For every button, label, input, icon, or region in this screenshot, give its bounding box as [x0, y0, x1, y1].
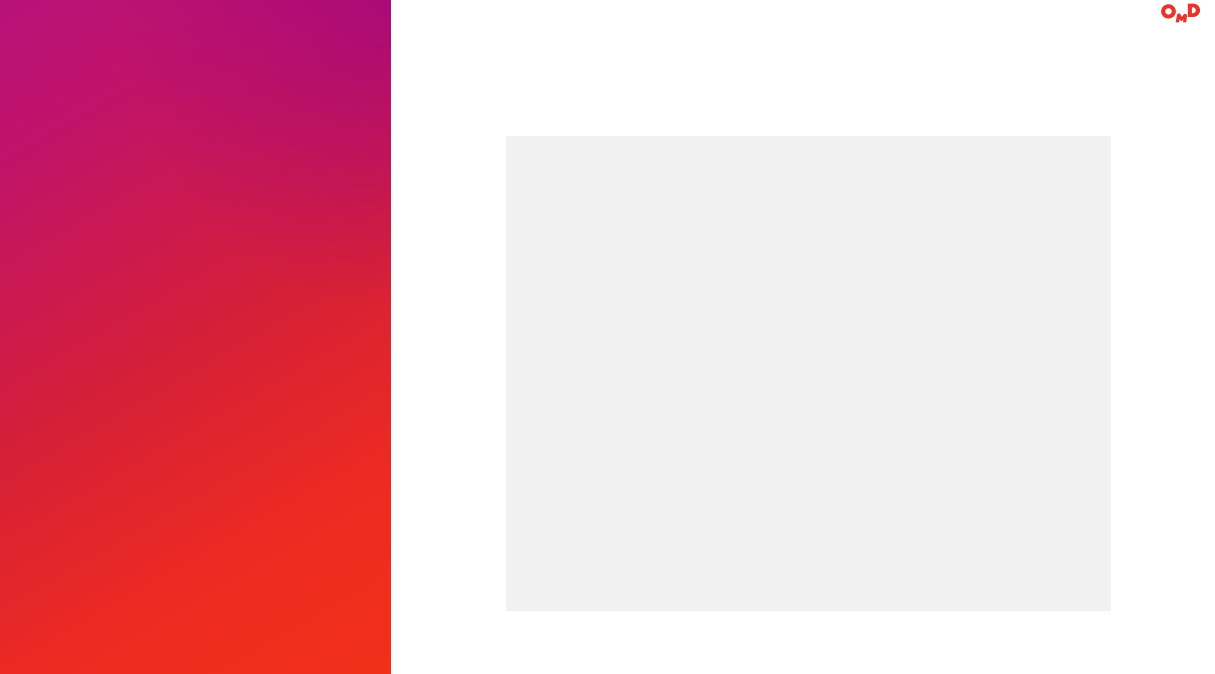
chart-panel [506, 136, 1111, 611]
left-title-panel [0, 0, 391, 674]
omd-logo [1159, 2, 1203, 28]
